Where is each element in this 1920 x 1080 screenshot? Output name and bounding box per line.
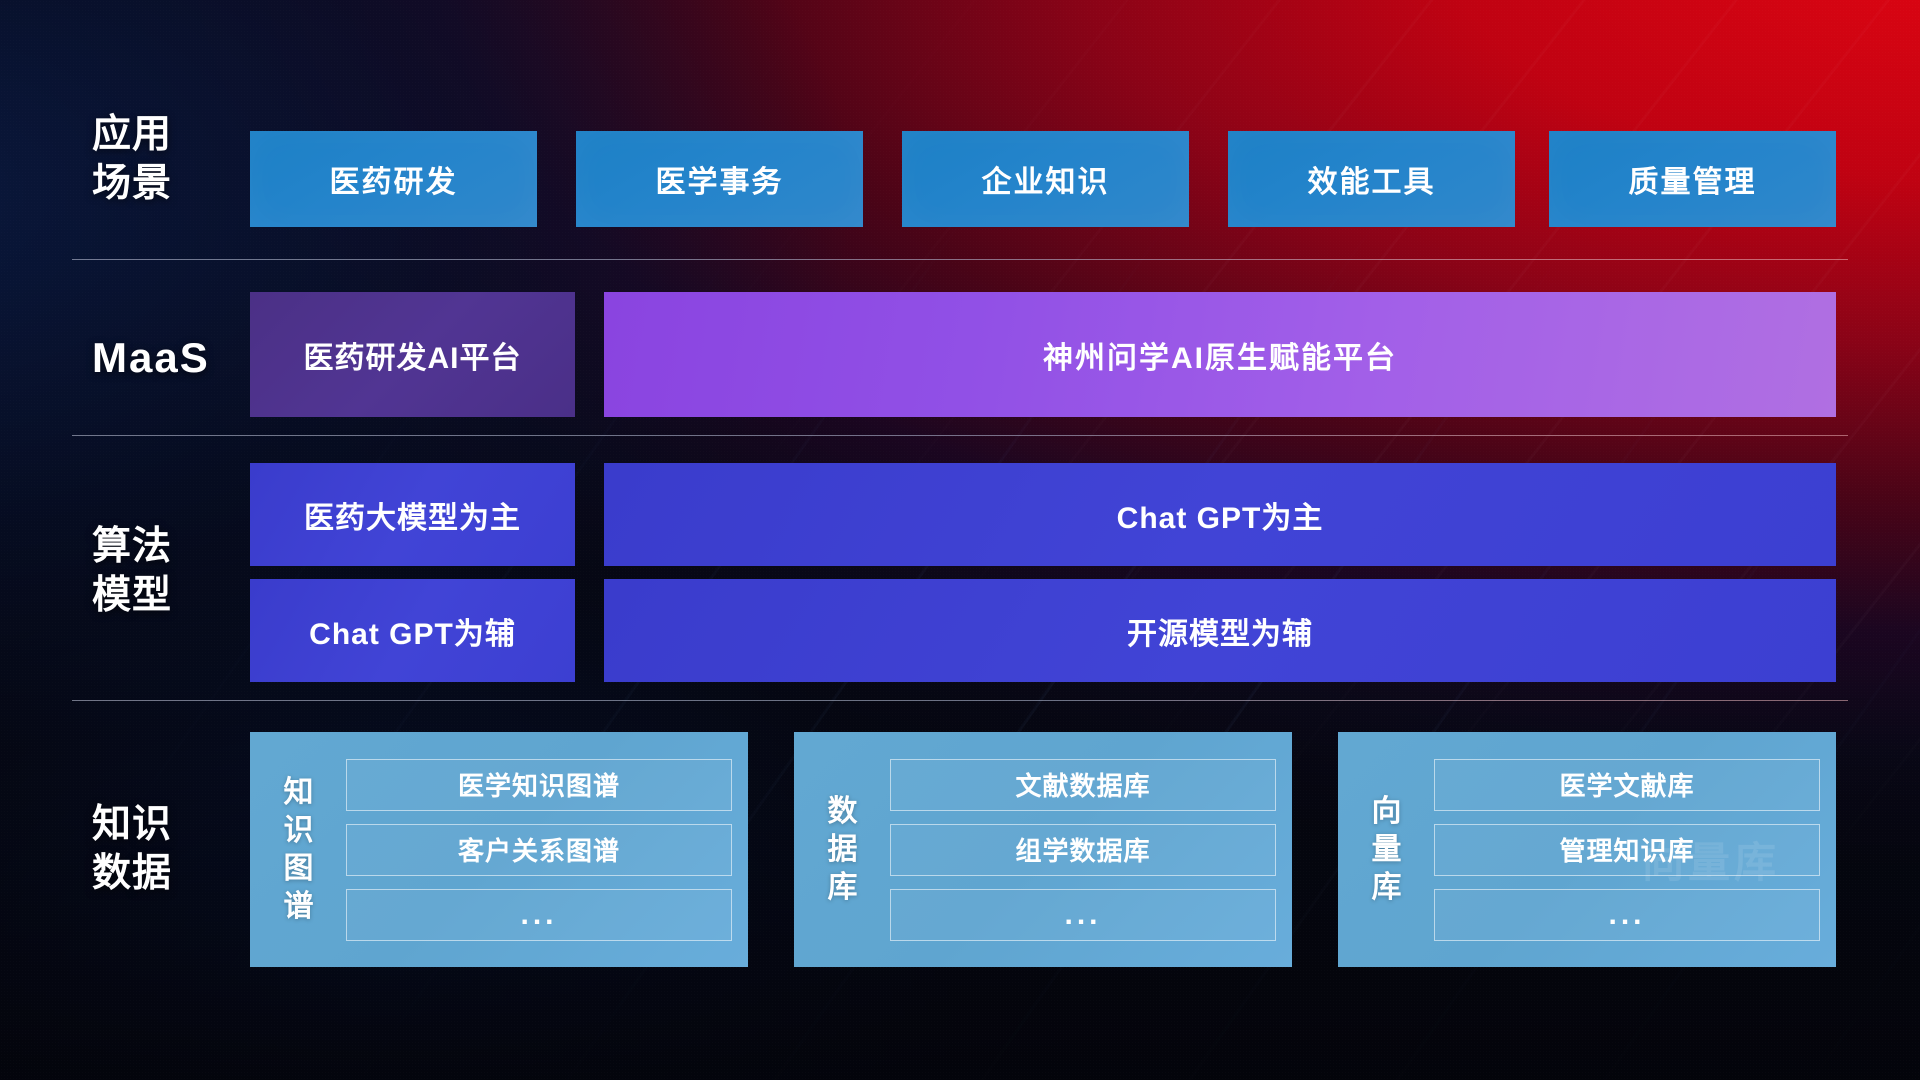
app-scenario-box-5[interactable]: 质量管理 bbox=[1549, 131, 1836, 227]
divider-algorithm-knowledge bbox=[72, 700, 1848, 701]
knowledge-group-1-title: 知 识 图 谱 bbox=[260, 774, 338, 926]
app-scenario-box-4[interactable]: 效能工具 bbox=[1228, 131, 1515, 227]
knowledge-group-vector-store[interactable]: 向 量 库 医学文献库 管理知识库 ... 向量库 bbox=[1338, 732, 1836, 967]
algorithm-left-secondary-label: Chat GPT为辅 bbox=[309, 609, 516, 653]
app-scenario-box-3[interactable]: 企业知识 bbox=[902, 131, 1189, 227]
app-scenario-box-1[interactable]: 医药研发 bbox=[250, 131, 537, 227]
knowledge-item-3-3[interactable]: ... bbox=[1434, 889, 1820, 941]
knowledge-item-3-2[interactable]: 管理知识库 bbox=[1434, 824, 1820, 876]
algorithm-right-primary-label: Chat GPT为主 bbox=[1117, 493, 1324, 537]
app-scenario-label-4: 效能工具 bbox=[1308, 157, 1436, 201]
app-scenario-label-5: 质量管理 bbox=[1629, 157, 1757, 201]
algorithm-box-left-secondary[interactable]: Chat GPT为辅 bbox=[250, 579, 575, 682]
algorithm-box-left-primary[interactable]: 医药大模型为主 bbox=[250, 463, 575, 566]
divider-maas-algorithm bbox=[72, 435, 1848, 436]
row-label-algorithm-model: 算法 模型 bbox=[92, 522, 252, 620]
knowledge-group-3-title: 向 量 库 bbox=[1348, 793, 1426, 907]
knowledge-item-1-2[interactable]: 客户关系图谱 bbox=[346, 824, 732, 876]
algorithm-right-secondary-label: 开源模型为辅 bbox=[1127, 609, 1313, 653]
diagram-canvas: 应用 场景 医药研发 医学事务 企业知识 效能工具 质量管理 MaaS 医药研发… bbox=[0, 0, 1920, 1080]
knowledge-item-2-1[interactable]: 文献数据库 bbox=[890, 759, 1276, 811]
maas-box-pharma-ai-platform[interactable]: 医药研发AI平台 bbox=[250, 292, 575, 417]
row-label-knowledge-data: 知识 数据 bbox=[92, 800, 252, 898]
knowledge-group-1-items: 医学知识图谱 客户关系图谱 ... bbox=[338, 759, 732, 941]
knowledge-group-2-title: 数 据 库 bbox=[804, 793, 882, 907]
knowledge-group-database[interactable]: 数 据 库 文献数据库 组学数据库 ... bbox=[794, 732, 1292, 967]
divider-application-maas bbox=[72, 259, 1848, 260]
knowledge-group-2-items: 文献数据库 组学数据库 ... bbox=[882, 759, 1276, 941]
maas-left-label: 医药研发AI平台 bbox=[304, 333, 522, 377]
maas-right-label: 神州问学AI原生赋能平台 bbox=[1043, 333, 1397, 377]
knowledge-item-2-3[interactable]: ... bbox=[890, 889, 1276, 941]
algorithm-left-primary-label: 医药大模型为主 bbox=[304, 493, 521, 537]
algorithm-box-right-secondary[interactable]: 开源模型为辅 bbox=[604, 579, 1836, 682]
app-scenario-label-3: 企业知识 bbox=[982, 157, 1110, 201]
app-scenario-label-1: 医药研发 bbox=[330, 157, 458, 201]
knowledge-group-knowledge-graph[interactable]: 知 识 图 谱 医学知识图谱 客户关系图谱 ... bbox=[250, 732, 748, 967]
knowledge-item-1-3[interactable]: ... bbox=[346, 889, 732, 941]
algorithm-box-right-primary[interactable]: Chat GPT为主 bbox=[604, 463, 1836, 566]
knowledge-item-3-1[interactable]: 医学文献库 bbox=[1434, 759, 1820, 811]
app-scenario-label-2: 医学事务 bbox=[656, 157, 784, 201]
knowledge-item-2-2[interactable]: 组学数据库 bbox=[890, 824, 1276, 876]
row-label-application-scenarios: 应用 场景 bbox=[92, 110, 252, 208]
knowledge-item-1-1[interactable]: 医学知识图谱 bbox=[346, 759, 732, 811]
maas-box-shenzhou-platform[interactable]: 神州问学AI原生赋能平台 bbox=[604, 292, 1836, 417]
app-scenario-box-2[interactable]: 医学事务 bbox=[576, 131, 863, 227]
row-label-maas: MaaS bbox=[92, 333, 252, 382]
knowledge-group-3-items: 医学文献库 管理知识库 ... bbox=[1426, 759, 1820, 941]
